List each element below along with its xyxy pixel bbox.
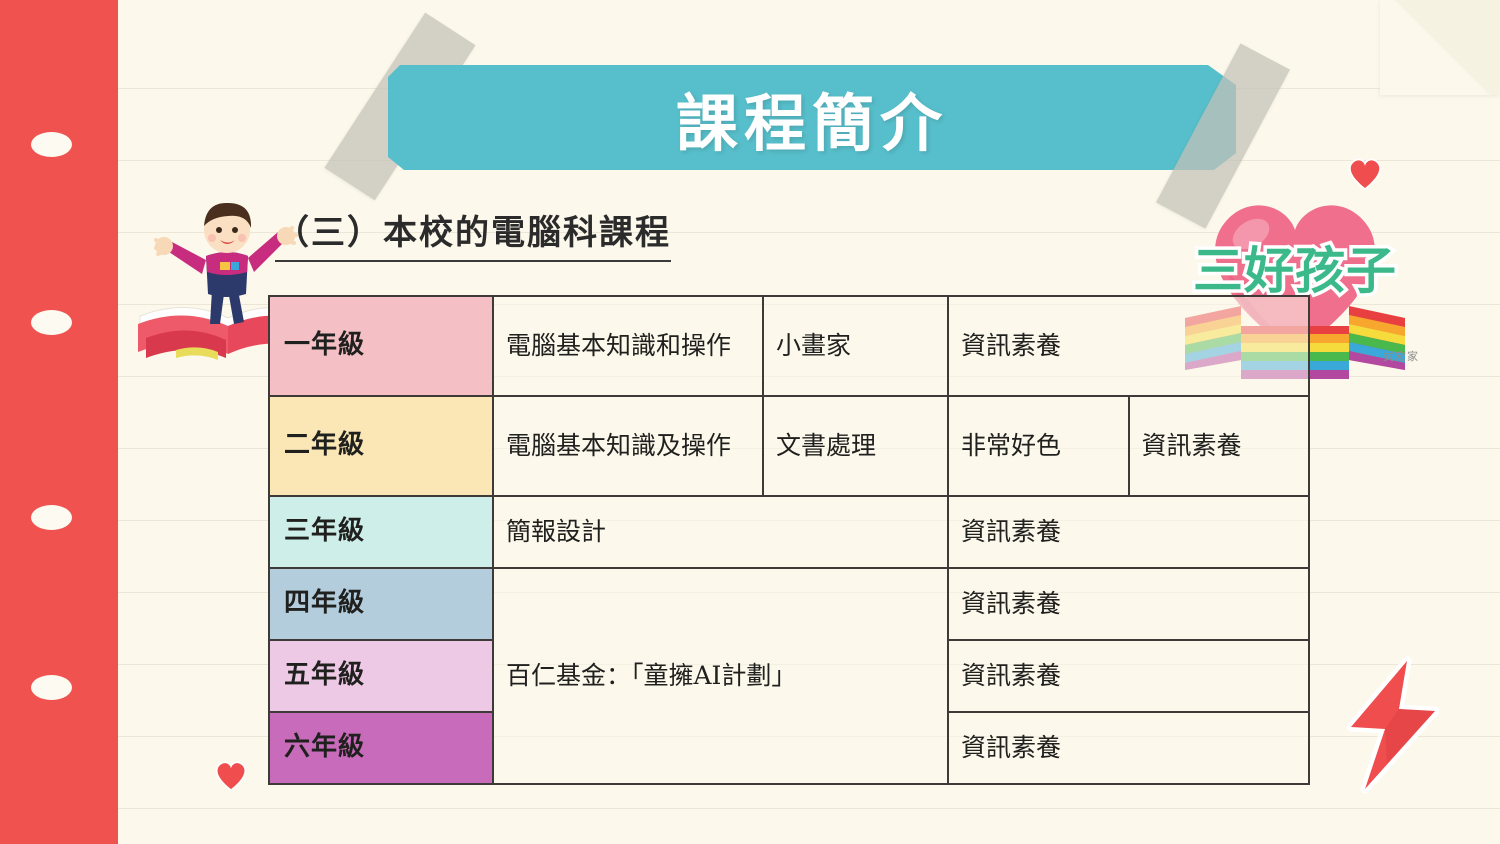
project-cell: 百仁基金：「童擁AI計劃」 [493,568,948,784]
heart-sticker-bottom-left [212,758,250,797]
lightning-bolt-sticker [1335,655,1455,795]
table-row: 一年級 電腦基本知識和操作 小畫家 資訊素養 [269,296,1309,396]
course-cell: 資訊素養 [948,296,1309,396]
course-cell: 簡報設計 [493,496,948,568]
course-cell: 小畫家 [763,296,948,396]
course-cell: 電腦基本知識和操作 [493,296,763,396]
course-cell: 文書處理 [763,396,948,496]
grade-cell: 六年級 [269,712,493,784]
section-subtitle: （三）本校的電腦科課程 [275,205,671,262]
grade-cell: 四年級 [269,568,493,640]
svg-text:三好孩子: 三好孩子 [1193,242,1397,300]
page-corner-fold [1380,0,1500,95]
grade-cell: 五年級 [269,640,493,712]
course-curriculum-table: 一年級 電腦基本知識和操作 小畫家 資訊素養 二年級 電腦基本知識及操作 文書處… [268,295,1310,785]
course-cell: 資訊素養 [948,712,1309,784]
table-row: 四年級 百仁基金：「童擁AI計劃」 資訊素養 [269,568,1309,640]
slide-canvas: 課程簡介 （三）本校的電腦科課程 [0,0,1500,844]
course-cell: 資訊素養 [948,568,1309,640]
course-cell: 資訊素養 [1129,396,1310,496]
binder-hole [31,675,72,700]
heart-sticker-top-right [1345,155,1385,196]
notebook-spine [0,0,118,844]
page-title: 課程簡介 [388,65,1236,170]
course-cell: 資訊素養 [948,496,1309,568]
binder-hole [31,505,72,530]
course-cell: 非常好色 [948,396,1129,496]
table-row: 二年級 電腦基本知識及操作 文書處理 非常好色 資訊素養 [269,396,1309,496]
title-banner: 課程簡介 [350,10,1290,200]
logo-credit: 式宏家 [1383,348,1419,364]
course-cell: 資訊素養 [948,640,1309,712]
grade-cell: 一年級 [269,296,493,396]
course-cell: 電腦基本知識及操作 [493,396,763,496]
binder-hole [31,132,72,157]
binder-hole [31,310,72,335]
grade-cell: 二年級 [269,396,493,496]
grade-cell: 三年級 [269,496,493,568]
table-row: 三年級 簡報設計 資訊素養 [269,496,1309,568]
